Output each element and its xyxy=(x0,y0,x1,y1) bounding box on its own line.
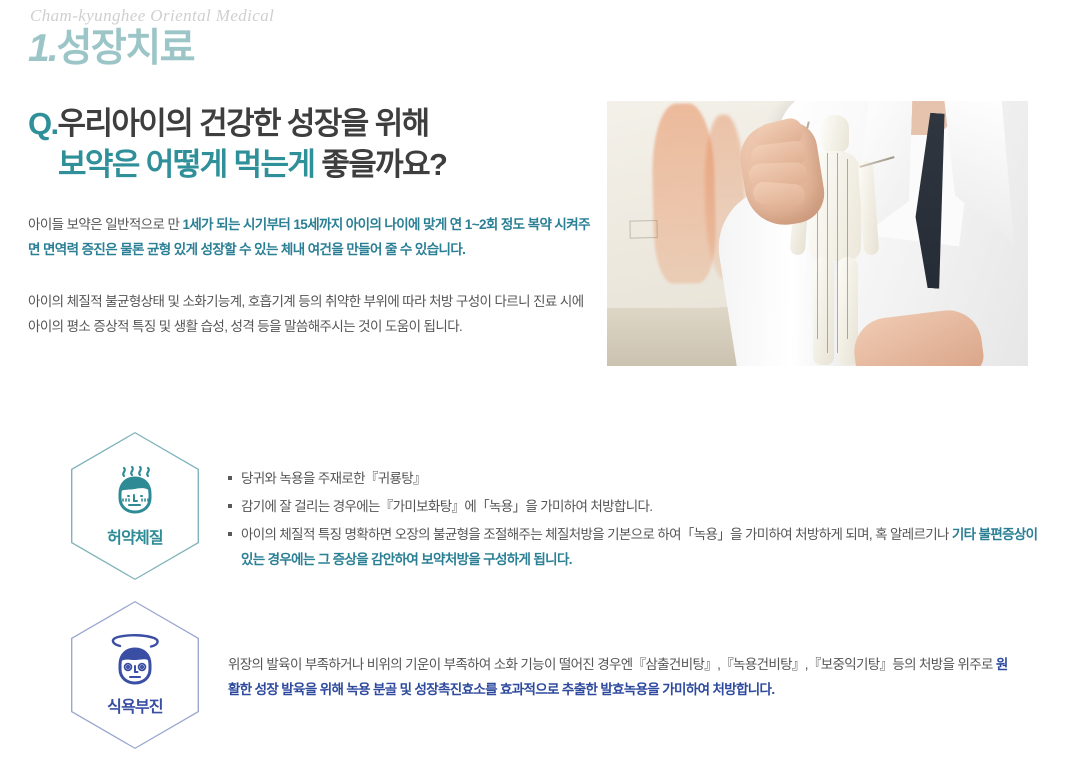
anatomy-chart-caption-box xyxy=(629,220,657,239)
dizzy-eye-left xyxy=(125,664,132,671)
section-title-text: 성장치료 xyxy=(57,27,195,70)
paragraph-one: 아이들 보약은 일반적으로 만 1세가 되는 시기부터 15세까지 아이의 나이… xyxy=(28,212,598,262)
badge-weak-constitution: 허약체질 xyxy=(71,432,199,580)
appetite-text-plain: 위장의 발육이 부족하거나 비위의 기운이 부족하여 소화 기능이 떨어진 경우… xyxy=(228,657,996,672)
paragraph-two: 아이의 체질적 불균형상태 및 소화기능계, 호흡기계 등의 취약한 부위에 따… xyxy=(28,289,598,339)
badge-content: 허약체질 xyxy=(71,432,199,580)
bullet-text: 감기에 잘 걸리는 경우에는『가미보화탕』에「녹용」을 가미하여 처방합니다. xyxy=(241,499,652,514)
badge-label-weak-constitution: 허약체질 xyxy=(107,524,163,548)
meridian-line xyxy=(827,153,828,353)
list-item: 감기에 잘 걸리는 경우에는『가미보화탕』에「녹용」을 가미하여 처방합니다. xyxy=(228,494,1048,519)
dizzy-swirl-ring xyxy=(113,635,158,646)
list-item: 아이의 체질적 특징 명확하면 오장의 불균형을 조절해주는 체질처방을 기본으… xyxy=(228,522,1048,572)
page-title: 1.성장치료 xyxy=(28,28,194,71)
section-number: 1. xyxy=(28,27,57,70)
badge-label-loss-of-appetite: 식욕부진 xyxy=(107,693,163,717)
question-line-1-text: 우리아이의 건강한 성장을 위해 xyxy=(58,106,429,141)
model-head xyxy=(821,115,849,153)
weak-constitution-bullet-list: 당귀와 녹용을 주재로한『귀룡탕』 감기에 잘 걸리는 경우에는『가미보화탕』에… xyxy=(228,466,1048,575)
question-block: Q.우리아이의 건강한 성장을 위해 보약은 어떻게 먹는게 좋을까요? xyxy=(28,104,593,186)
face-hair xyxy=(119,649,151,663)
meridian-line xyxy=(847,159,848,339)
doctor-acupuncture-photo xyxy=(607,101,1028,366)
steaming-tired-face-icon xyxy=(106,464,164,518)
appetite-description: 위장의 발육이 부족하거나 비위의 기운이 부족하여 소화 기능이 떨어진 경우… xyxy=(228,652,1018,702)
doctor-finger xyxy=(752,181,805,207)
badge-loss-of-appetite: 식욕부진 xyxy=(71,601,199,749)
paragraph-one-plain: 아이들 보약은 일반적으로 만 xyxy=(28,217,182,232)
question-line-2-highlight: 보약은 어떻게 먹는게 xyxy=(58,147,321,182)
bullet-text: 아이의 체질적 특징 명확하면 오장의 불균형을 조절해주는 체질처방을 기본으… xyxy=(241,527,952,542)
meridian-line xyxy=(837,153,838,353)
question-marker: Q. xyxy=(28,106,58,141)
list-item: 당귀와 녹용을 주재로한『귀룡탕』 xyxy=(228,466,1048,491)
badge-content: 식욕부진 xyxy=(71,601,199,749)
dizzy-eye-right xyxy=(139,664,146,671)
question-line-2: 보약은 어떻게 먹는게 좋을까요? xyxy=(28,145,593,186)
brand-subtitle: Cham-kyunghee Oriental Medical xyxy=(30,6,274,26)
question-line-1: Q.우리아이의 건강한 성장을 위해 xyxy=(28,104,593,145)
bullet-text: 당귀와 녹용을 주재로한『귀룡탕』 xyxy=(241,471,426,486)
question-line-2-text: 좋을까요? xyxy=(321,147,446,182)
dizzy-face-icon xyxy=(104,633,166,687)
